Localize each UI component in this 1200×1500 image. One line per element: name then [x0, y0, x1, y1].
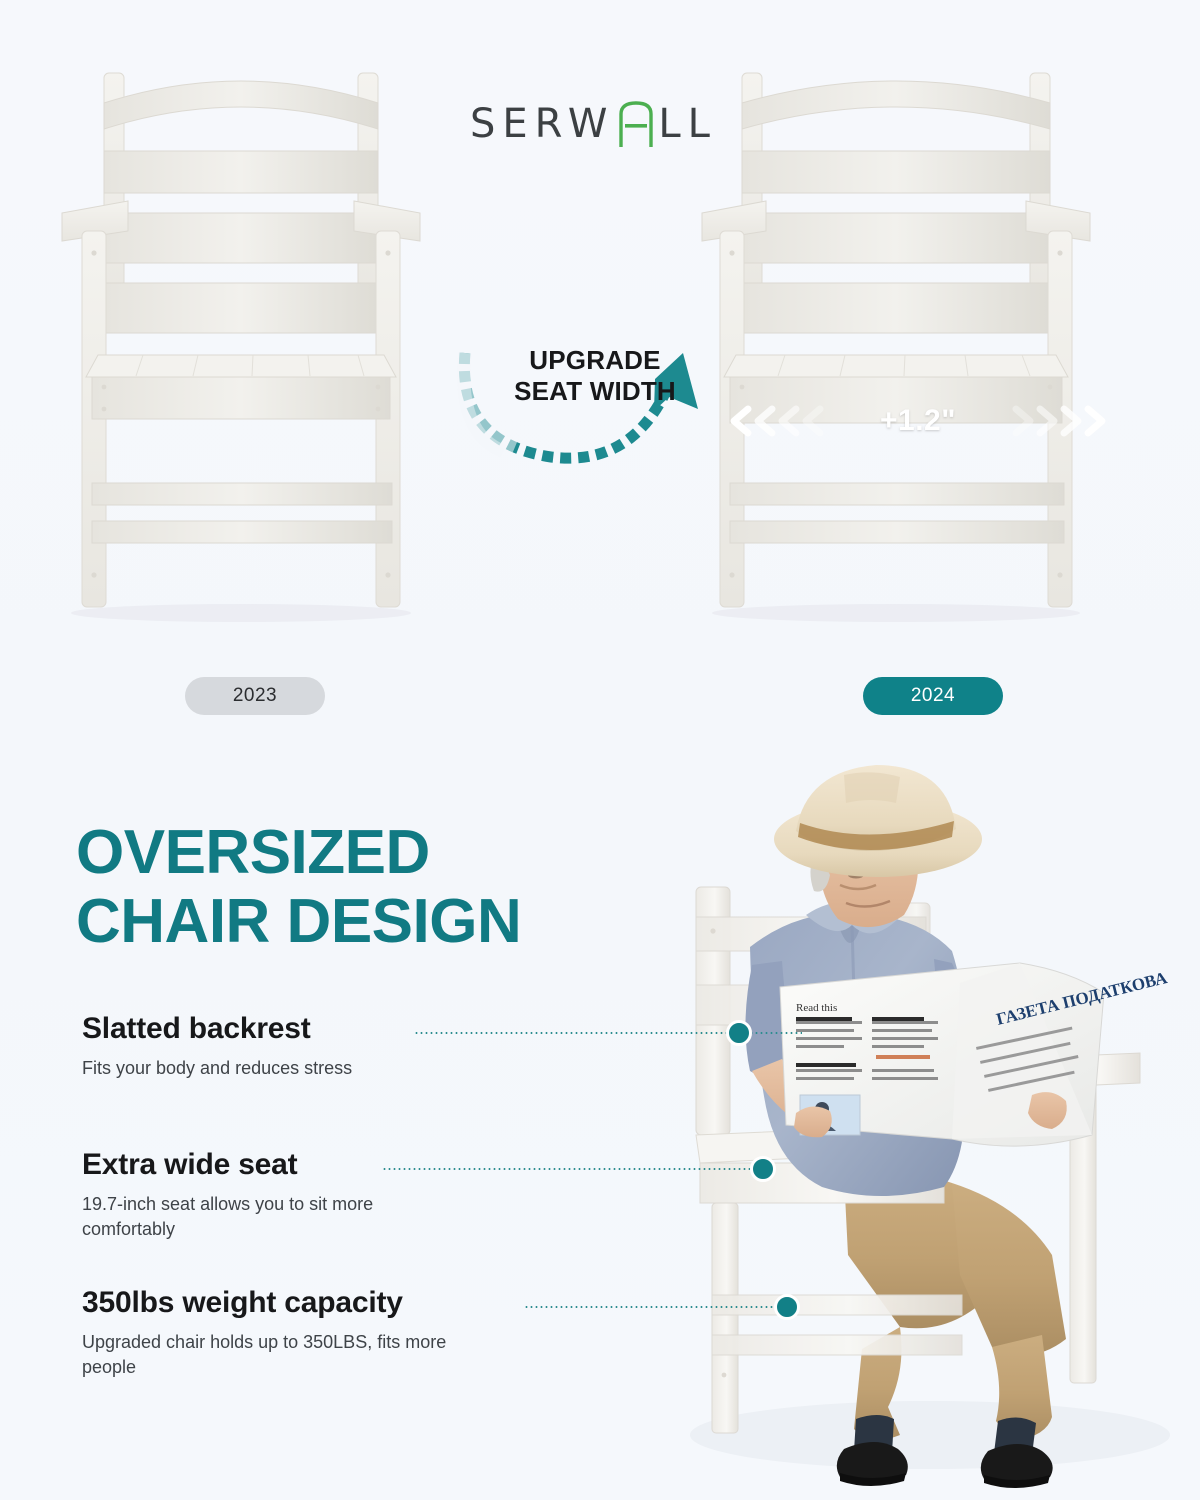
- chevron-right-icon: [1012, 404, 1108, 438]
- callout-dot-icon: [750, 1156, 776, 1182]
- seat-width-value: +1.2": [880, 404, 956, 438]
- page-title: OVERSIZED CHAIR DESIGN: [76, 818, 676, 957]
- chevron-right-group: [1012, 404, 1108, 438]
- chevron-left-group: [728, 404, 824, 438]
- badge-2023-label: 2023: [233, 685, 277, 707]
- badge-year-2023[interactable]: 2023: [185, 677, 325, 715]
- lifestyle-photo-man-on-chair: Read this ГАЗЕТА ПОДАТКОВА: [600, 735, 1200, 1500]
- feature-description: Fits your body and reduces stress: [82, 1056, 462, 1082]
- feature-leader-line: [382, 1168, 760, 1170]
- callout-line-2: SEAT WIDTH: [495, 376, 695, 407]
- chevron-left-icon: [728, 404, 824, 438]
- feature-description: 19.7-inch seat allows you to sit more co…: [82, 1192, 462, 1243]
- badge-year-2024[interactable]: 2024: [863, 677, 1003, 715]
- callout-dot-icon: [726, 1020, 752, 1046]
- fedora-hat-icon: [774, 765, 982, 877]
- chair-letter-a-icon: [616, 100, 656, 144]
- feature-item-slatted-backrest: Slatted backrest Fits your body and redu…: [82, 1012, 722, 1081]
- feature-title: Extra wide seat: [82, 1148, 297, 1183]
- callout-dot-icon: [774, 1294, 800, 1320]
- svg-text:Read this: Read this: [796, 1002, 837, 1014]
- feature-title: Slatted backrest: [82, 1012, 311, 1047]
- seat-width-indicator: +1.2": [728, 402, 1108, 440]
- brand-name-part1: SERW: [470, 104, 614, 144]
- upgrade-callout-text: UPGRADE SEAT WIDTH: [495, 345, 695, 406]
- feature-item-weight-capacity: 350lbs weight capacity Upgraded chair ho…: [82, 1286, 722, 1381]
- callout-line-1: UPGRADE: [495, 345, 695, 376]
- infographic-page: SERW LL: [0, 0, 1200, 1500]
- feature-leader-line: [524, 1306, 784, 1308]
- headline-line-2: CHAIR DESIGN: [76, 887, 676, 956]
- upgrade-callout: UPGRADE SEAT WIDTH: [455, 335, 705, 475]
- feature-item-extra-wide-seat: Extra wide seat 19.7-inch seat allows yo…: [82, 1148, 722, 1243]
- chair-2023-image: [58, 55, 458, 660]
- feature-title: 350lbs weight capacity: [82, 1286, 403, 1321]
- brand-logo: SERW LL: [470, 100, 717, 144]
- feature-description: Upgraded chair holds up to 350LBS, fits …: [82, 1330, 462, 1381]
- chair-2024-image: [700, 55, 1120, 660]
- headline-line-1: OVERSIZED: [76, 818, 676, 887]
- badge-2024-label: 2024: [911, 685, 955, 707]
